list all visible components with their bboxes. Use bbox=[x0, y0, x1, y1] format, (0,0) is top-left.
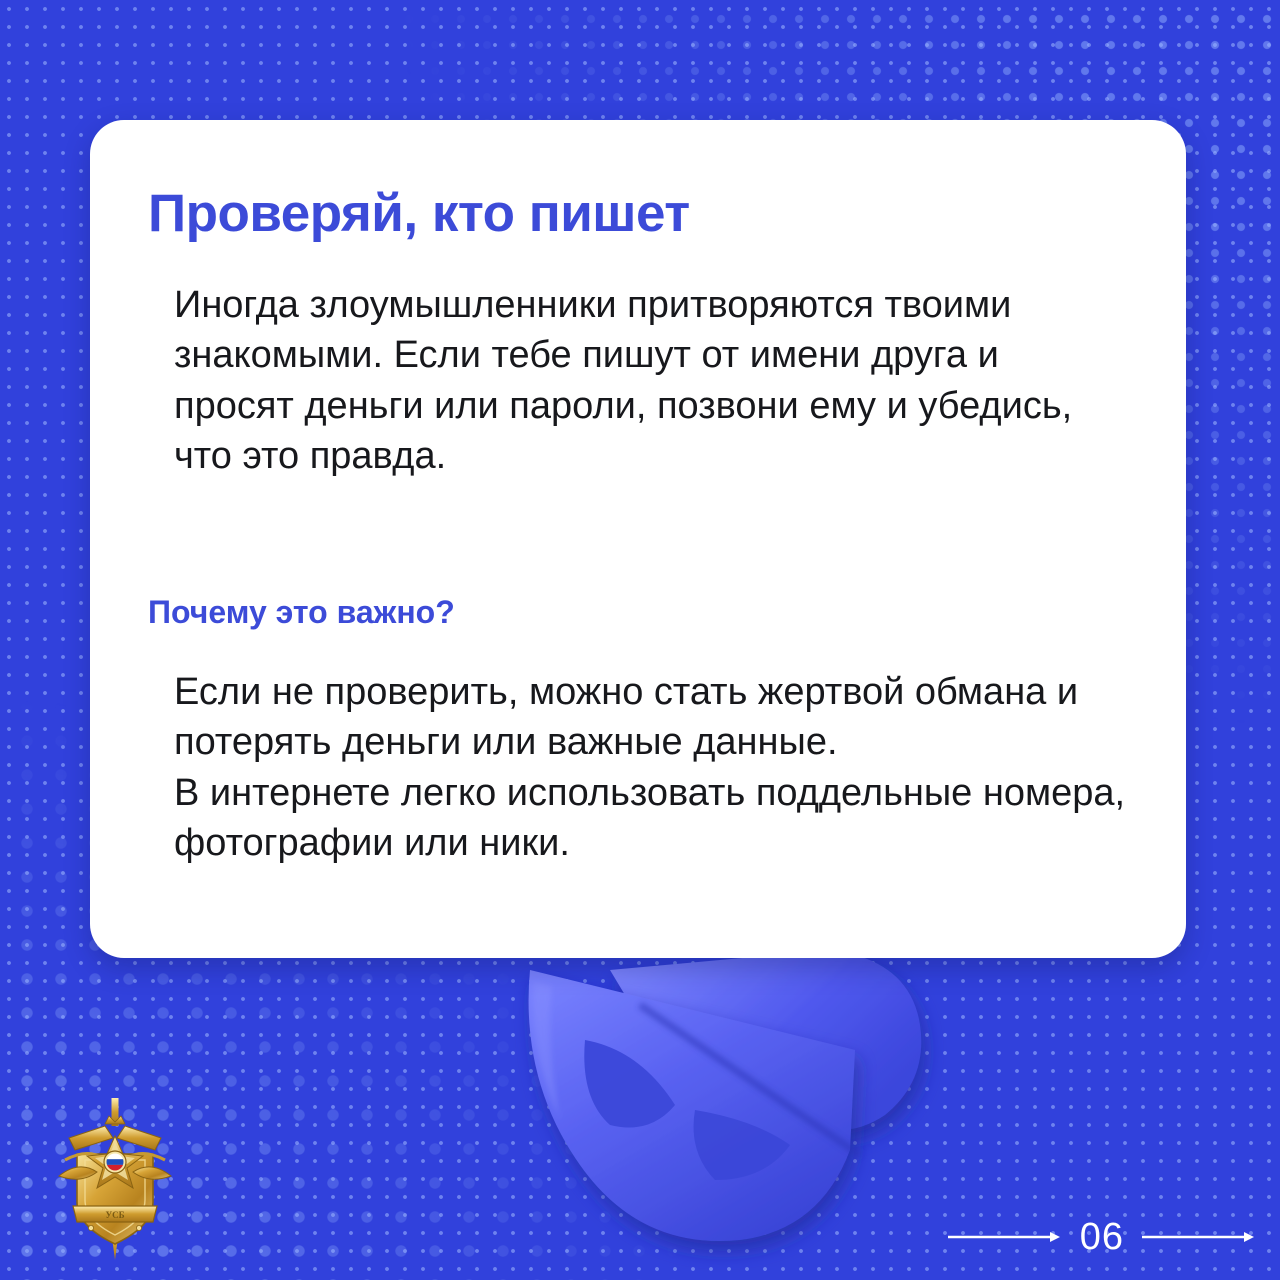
page-indicator: 06 bbox=[946, 1210, 1258, 1264]
arrow-right-icon-left bbox=[946, 1229, 1064, 1245]
lead-paragraph: Иногда злоумышленники притворяются твоим… bbox=[148, 280, 1126, 482]
page-number: 06 bbox=[1080, 1218, 1124, 1256]
slide-canvas: Проверяй, кто пишет Иногда злоумышленник… bbox=[0, 0, 1280, 1280]
emblem-banner-text: УСБ bbox=[105, 1210, 124, 1220]
why-paragraph-line-2: В интернете легко использовать поддельны… bbox=[148, 768, 1126, 869]
arrow-right-icon-right bbox=[1140, 1229, 1258, 1245]
why-paragraph-line-1: Если не проверить, можно стать жертвой о… bbox=[148, 667, 1126, 768]
abstract-3d-mask-shape bbox=[490, 930, 950, 1280]
section-subtitle: Почему это важно? bbox=[148, 594, 1126, 631]
content-card: Проверяй, кто пишет Иногда злоумышленник… bbox=[90, 120, 1186, 958]
gold-heraldic-emblem: УСБ bbox=[55, 1098, 175, 1260]
page-title: Проверяй, кто пишет bbox=[148, 186, 1126, 242]
